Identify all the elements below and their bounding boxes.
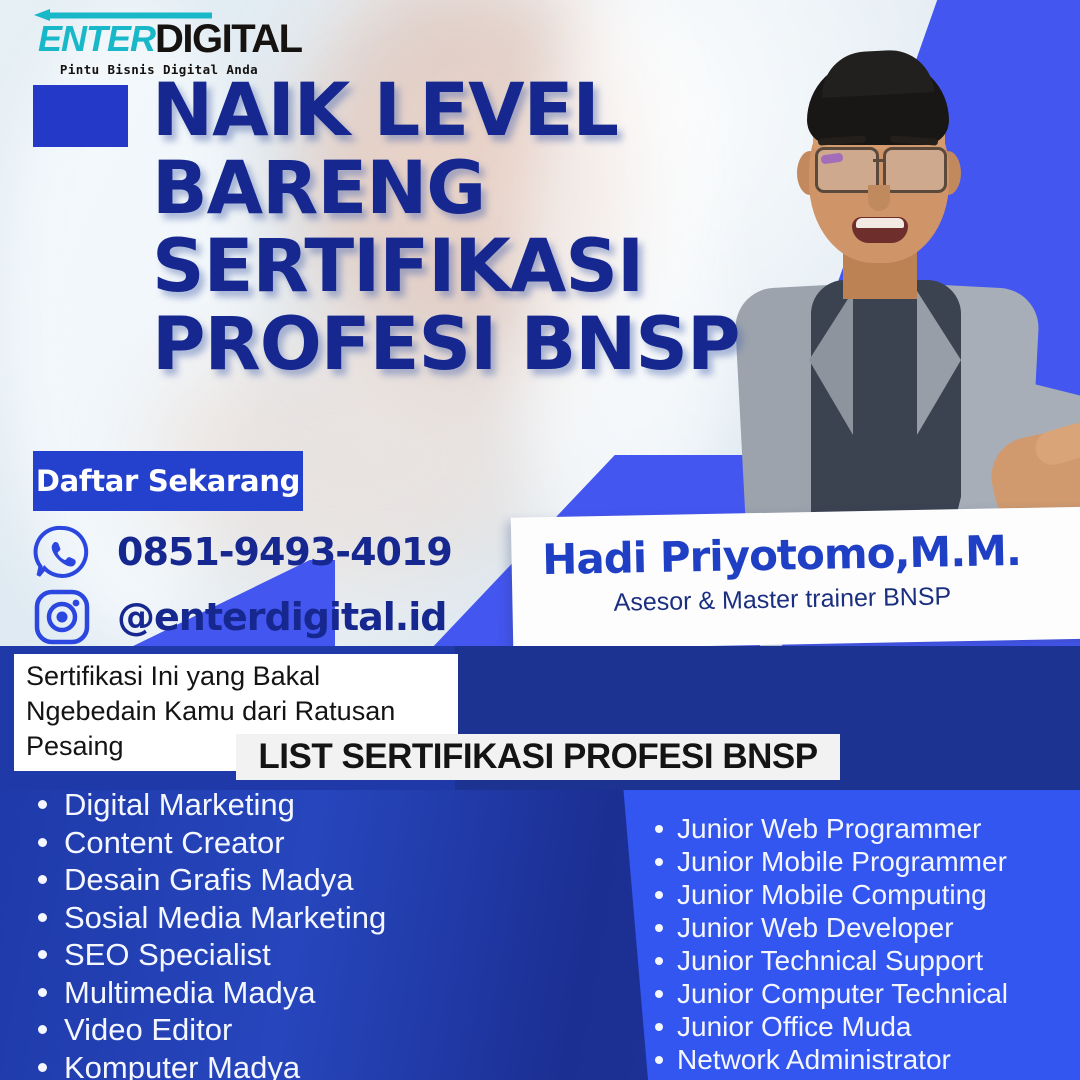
list-item: Junior Mobile Programmer	[655, 845, 1065, 878]
list-item: Junior Computer Technical	[655, 977, 1065, 1010]
list-item: Junior Office Muda	[655, 1010, 1065, 1043]
bullet-icon	[38, 988, 47, 997]
list-item-label: Network Administrator	[677, 1043, 951, 1076]
list-item: Content Creator	[38, 824, 458, 862]
list-item-label: Junior Mobile Computing	[677, 878, 987, 911]
list-item-label: Desain Grafis Madya	[64, 861, 353, 899]
instagram-contact[interactable]: @enterdigital.id	[33, 588, 446, 646]
page-title: NAIK LEVEL BARENG SERTIFIKASI PROFESI BN…	[152, 72, 892, 384]
bullet-icon	[38, 800, 47, 809]
logo-wordmark: ENTER DIGITAL	[38, 14, 338, 58]
list-item: SEO Specialist	[38, 936, 458, 974]
list-item: Junior Technical Support	[655, 944, 1065, 977]
bullet-icon	[655, 990, 663, 998]
certification-list-right: Junior Web Programmer Junior Mobile Prog…	[655, 812, 1065, 1076]
headline-line-2: BARENG	[152, 150, 892, 228]
list-item: Junior Web Developer	[655, 911, 1065, 944]
bullet-icon	[655, 1023, 663, 1031]
list-item-label: Sosial Media Marketing	[64, 899, 386, 937]
list-item: Junior Mobile Computing	[655, 878, 1065, 911]
headline-line-4: PROFESI BNSP	[152, 306, 892, 384]
bullet-icon	[38, 838, 47, 847]
bullet-icon	[38, 875, 47, 884]
bullet-icon	[38, 1063, 47, 1072]
list-item-label: Digital Marketing	[64, 786, 295, 824]
list-title: LIST SERTIFIKASI PROFESI BNSP	[236, 734, 840, 780]
poster-canvas: COACH ENTER DIGITA	[0, 0, 1080, 1080]
whatsapp-icon	[33, 523, 91, 581]
list-item-label: Video Editor	[64, 1011, 232, 1049]
headline-square-accent	[33, 85, 128, 147]
bullet-icon	[655, 1056, 663, 1064]
logo-digital-label: DIGITAL	[155, 20, 302, 58]
list-item: Network Administrator	[655, 1043, 1065, 1076]
register-button[interactable]: Daftar Sekarang	[33, 451, 303, 511]
instagram-icon	[33, 588, 91, 646]
list-item: Sosial Media Marketing	[38, 899, 458, 937]
eyeglass-right	[883, 147, 947, 193]
certification-list-left: Digital Marketing Content Creator Desain…	[38, 786, 458, 1080]
list-item: Desain Grafis Madya	[38, 861, 458, 899]
list-item-label: Komputer Madya	[64, 1049, 300, 1080]
instagram-handle: @enterdigital.id	[117, 595, 446, 639]
arrow-left-icon	[34, 9, 212, 21]
bullet-icon	[655, 858, 663, 866]
whatsapp-contact[interactable]: 0851-9493-4019	[33, 523, 452, 581]
list-item-label: Content Creator	[64, 824, 285, 862]
list-item-label: Junior Technical Support	[677, 944, 983, 977]
list-item-label: SEO Specialist	[64, 936, 271, 974]
speaker-name: Hadi Priyotomo,M.M.	[511, 524, 1080, 585]
logo-enter-text: ENTER	[38, 20, 155, 58]
list-item: Multimedia Madya	[38, 974, 458, 1012]
bullet-icon	[38, 1025, 47, 1034]
list-item: Komputer Madya	[38, 1049, 458, 1080]
brand-logo[interactable]: ENTER DIGITAL Pintu Bisnis Digital Anda	[38, 14, 338, 76]
headline-line-1: NAIK LEVEL	[152, 72, 892, 150]
bullet-icon	[655, 891, 663, 899]
list-item-label: Junior Office Muda	[677, 1010, 912, 1043]
logo-enter-label: ENTER	[38, 18, 155, 59]
bullet-icon	[655, 825, 663, 833]
list-item: Video Editor	[38, 1011, 458, 1049]
whatsapp-number: 0851-9493-4019	[117, 530, 452, 574]
list-item-label: Junior Mobile Programmer	[677, 845, 1007, 878]
list-item: Junior Web Programmer	[655, 812, 1065, 845]
bullet-icon	[38, 950, 47, 959]
list-item-label: Junior Computer Technical	[677, 977, 1008, 1010]
list-item-label: Multimedia Madya	[64, 974, 316, 1012]
bullet-icon	[38, 913, 47, 922]
list-item-label: Junior Web Developer	[677, 911, 954, 944]
list-item-label: Junior Web Programmer	[677, 812, 981, 845]
speaker-role: Asesor & Master trainer BNSP	[512, 579, 1080, 620]
speaker-name-card: Hadi Priyotomo,M.M. Asesor & Master trai…	[511, 506, 1080, 649]
bullet-icon	[655, 924, 663, 932]
headline-line-3: SERTIFIKASI	[152, 228, 892, 306]
list-item: Digital Marketing	[38, 786, 458, 824]
bullet-icon	[655, 957, 663, 965]
